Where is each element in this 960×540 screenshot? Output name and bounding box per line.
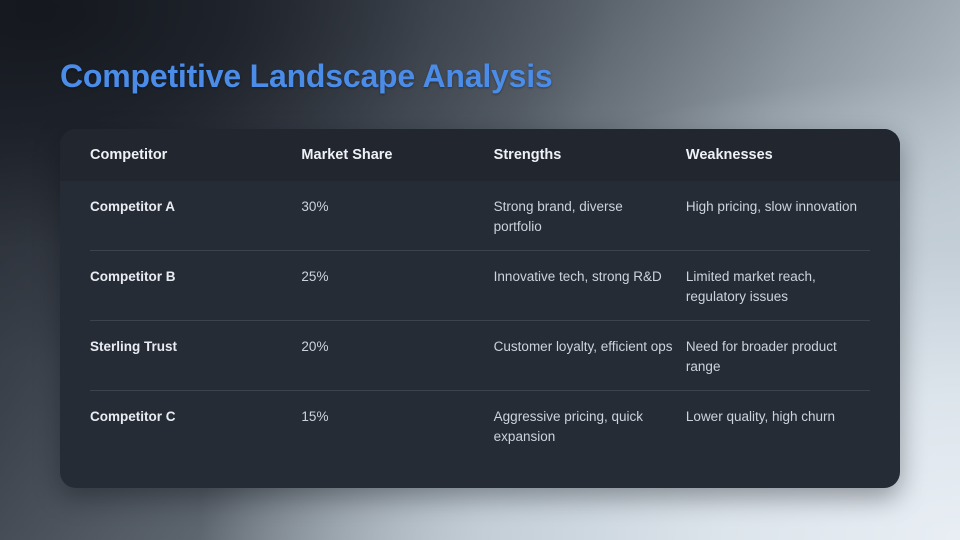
column-header-market-share: Market Share — [301, 146, 493, 164]
cell-market-share: 30% — [301, 197, 493, 217]
table-row: Competitor A 30% Strong brand, diverse p… — [60, 181, 900, 251]
cell-competitor: Competitor B — [90, 267, 301, 287]
cell-weaknesses: Lower quality, high churn — [686, 407, 870, 427]
cell-market-share: 20% — [301, 337, 493, 357]
cell-weaknesses: Need for broader product range — [686, 337, 870, 376]
slide-canvas: Competitive Landscape Analysis Competito… — [0, 0, 960, 540]
column-header-competitor: Competitor — [90, 146, 301, 164]
cell-strengths: Aggressive pricing, quick expansion — [494, 407, 686, 446]
page-title: Competitive Landscape Analysis — [60, 58, 553, 95]
table-header-row: Competitor Market Share Strengths Weakne… — [60, 129, 900, 181]
cell-market-share: 25% — [301, 267, 493, 287]
table-row: Competitor B 25% Innovative tech, strong… — [60, 251, 900, 321]
cell-competitor: Sterling Trust — [90, 337, 301, 357]
column-header-weaknesses: Weaknesses — [686, 146, 870, 164]
table-row: Sterling Trust 20% Customer loyalty, eff… — [60, 321, 900, 391]
column-header-strengths: Strengths — [494, 146, 686, 164]
cell-weaknesses: Limited market reach, regulatory issues — [686, 267, 870, 306]
cell-strengths: Customer loyalty, efficient ops — [494, 337, 686, 357]
cell-strengths: Strong brand, diverse portfolio — [494, 197, 686, 236]
cell-competitor: Competitor C — [90, 407, 301, 427]
table-row: Competitor C 15% Aggressive pricing, qui… — [60, 391, 900, 461]
cell-weaknesses: High pricing, slow innovation — [686, 197, 870, 217]
cell-market-share: 15% — [301, 407, 493, 427]
cell-competitor: Competitor A — [90, 197, 301, 217]
cell-strengths: Innovative tech, strong R&D — [494, 267, 686, 287]
competitor-table-card: Competitor Market Share Strengths Weakne… — [60, 129, 900, 488]
